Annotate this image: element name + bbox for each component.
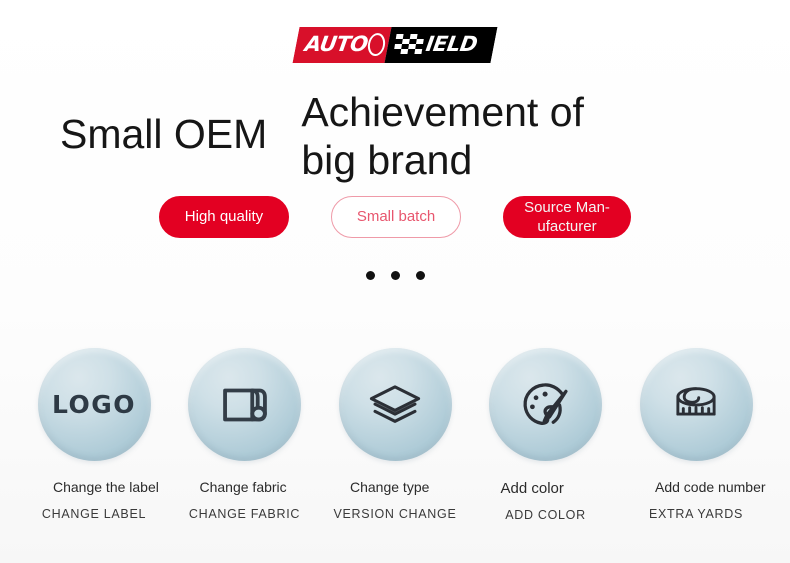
logo-word-ield: IELD xyxy=(424,34,478,55)
feature-subtitle: VERSION CHANGE xyxy=(320,507,470,521)
carousel-dot-1[interactable] xyxy=(366,271,375,280)
feature-title: Change fabric xyxy=(170,479,320,497)
fabric-roll-icon xyxy=(216,376,274,434)
feature-icon-circle[interactable] xyxy=(640,348,753,461)
carousel-dot-2[interactable] xyxy=(391,271,400,280)
brand-logo: AUTO IELD xyxy=(0,27,790,63)
logo-word-auto: AUTO xyxy=(303,34,369,55)
pill-label: High quality xyxy=(185,208,263,227)
paint-palette-icon xyxy=(517,376,575,434)
feature-subtitle: ADD COLOR xyxy=(471,508,621,522)
feature-add-color[interactable]: Add color ADD COLOR xyxy=(471,348,621,522)
feature-change-fabric[interactable]: Change fabric CHANGE FABRIC xyxy=(170,348,320,522)
feature-add-code-number[interactable]: Add code number EXTRA YARDS xyxy=(621,348,771,522)
feature-title: Add color xyxy=(471,479,621,498)
layers-icon xyxy=(366,376,424,434)
feature-icon-circle[interactable]: LOGO xyxy=(38,348,151,461)
feature-list: LOGO Change the label CHANGE LABEL Chang… xyxy=(19,348,771,522)
headline-left: Small OEM xyxy=(60,88,267,158)
feature-icon-circle[interactable] xyxy=(188,348,301,461)
feature-change-type[interactable]: Change type VERSION CHANGE xyxy=(320,348,470,522)
feature-subtitle: CHANGE FABRIC xyxy=(170,507,320,521)
feature-icon-circle[interactable] xyxy=(339,348,452,461)
logo-badge: AUTO IELD xyxy=(293,27,498,63)
pill-small-batch[interactable]: Small batch xyxy=(331,196,461,238)
feature-subtitle: CHANGE LABEL xyxy=(19,507,169,521)
tag-pill-group: High quality Small batch Source Man- ufa… xyxy=(0,196,790,238)
pill-high-quality[interactable]: High quality xyxy=(159,196,289,238)
feature-icon-circle[interactable] xyxy=(489,348,602,461)
tape-measure-icon xyxy=(667,376,725,434)
feature-title: Change type xyxy=(320,479,470,497)
feature-change-label[interactable]: LOGO Change the label CHANGE LABEL xyxy=(19,348,169,522)
pill-label: Source Man- ufacturer xyxy=(514,198,620,237)
pill-source-manufacturer[interactable]: Source Man- ufacturer xyxy=(503,196,631,238)
carousel-dot-3[interactable] xyxy=(416,271,425,280)
feature-subtitle: EXTRA YARDS xyxy=(621,507,771,521)
headline-right: Achievement of big brand xyxy=(301,88,631,185)
pill-label: Small batch xyxy=(357,208,435,227)
tire-o-icon xyxy=(367,32,385,57)
logo-text-icon: LOGO xyxy=(52,390,136,419)
feature-title: Add code number xyxy=(621,479,771,497)
feature-title: Change the label xyxy=(19,479,169,497)
carousel-dots[interactable] xyxy=(0,271,790,280)
page-title: Small OEM Achievement of big brand xyxy=(60,88,740,185)
